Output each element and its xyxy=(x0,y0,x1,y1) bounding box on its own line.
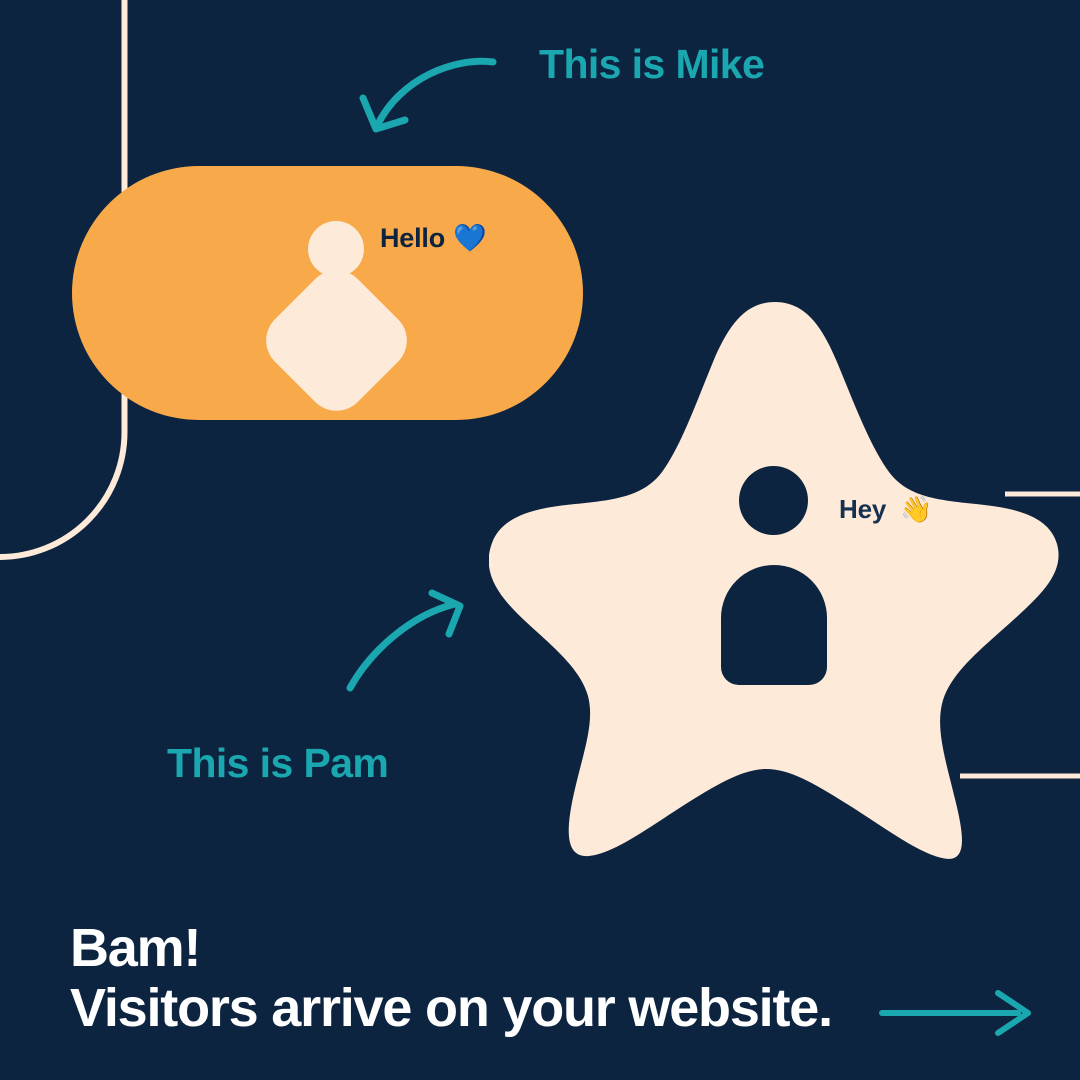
headline-line-2: Visitors arrive on your website. xyxy=(70,978,832,1038)
arrow-to-pam-icon xyxy=(340,588,470,698)
mike-greeting: Hello💙 xyxy=(380,222,486,254)
blue-heart-icon: 💙 xyxy=(453,223,486,253)
mike-avatar-head-icon xyxy=(308,221,364,277)
waving-hand-icon: 👋 xyxy=(900,494,932,524)
pam-card[interactable]: Hey👋 xyxy=(489,296,1061,862)
pam-avatar-head-icon xyxy=(739,466,808,535)
mike-avatar-body-icon xyxy=(254,258,419,423)
arrow-to-mike-icon xyxy=(355,40,505,150)
arrow-right-icon xyxy=(878,985,1038,1041)
mike-greeting-text: Hello xyxy=(380,223,445,253)
label-this-is-pam: This is Pam xyxy=(167,740,388,787)
pam-greeting-text: Hey xyxy=(839,494,886,524)
pam-greeting: Hey👋 xyxy=(839,494,932,525)
poster-canvas: This is Mike Hello💙 Hey👋 This is Pam Bam… xyxy=(0,0,1080,1080)
pam-avatar-body-icon xyxy=(721,565,827,685)
headline: Bam! Visitors arrive on your website. xyxy=(70,918,832,1038)
headline-line-1: Bam! xyxy=(70,918,200,978)
label-this-is-mike: This is Mike xyxy=(539,41,764,88)
